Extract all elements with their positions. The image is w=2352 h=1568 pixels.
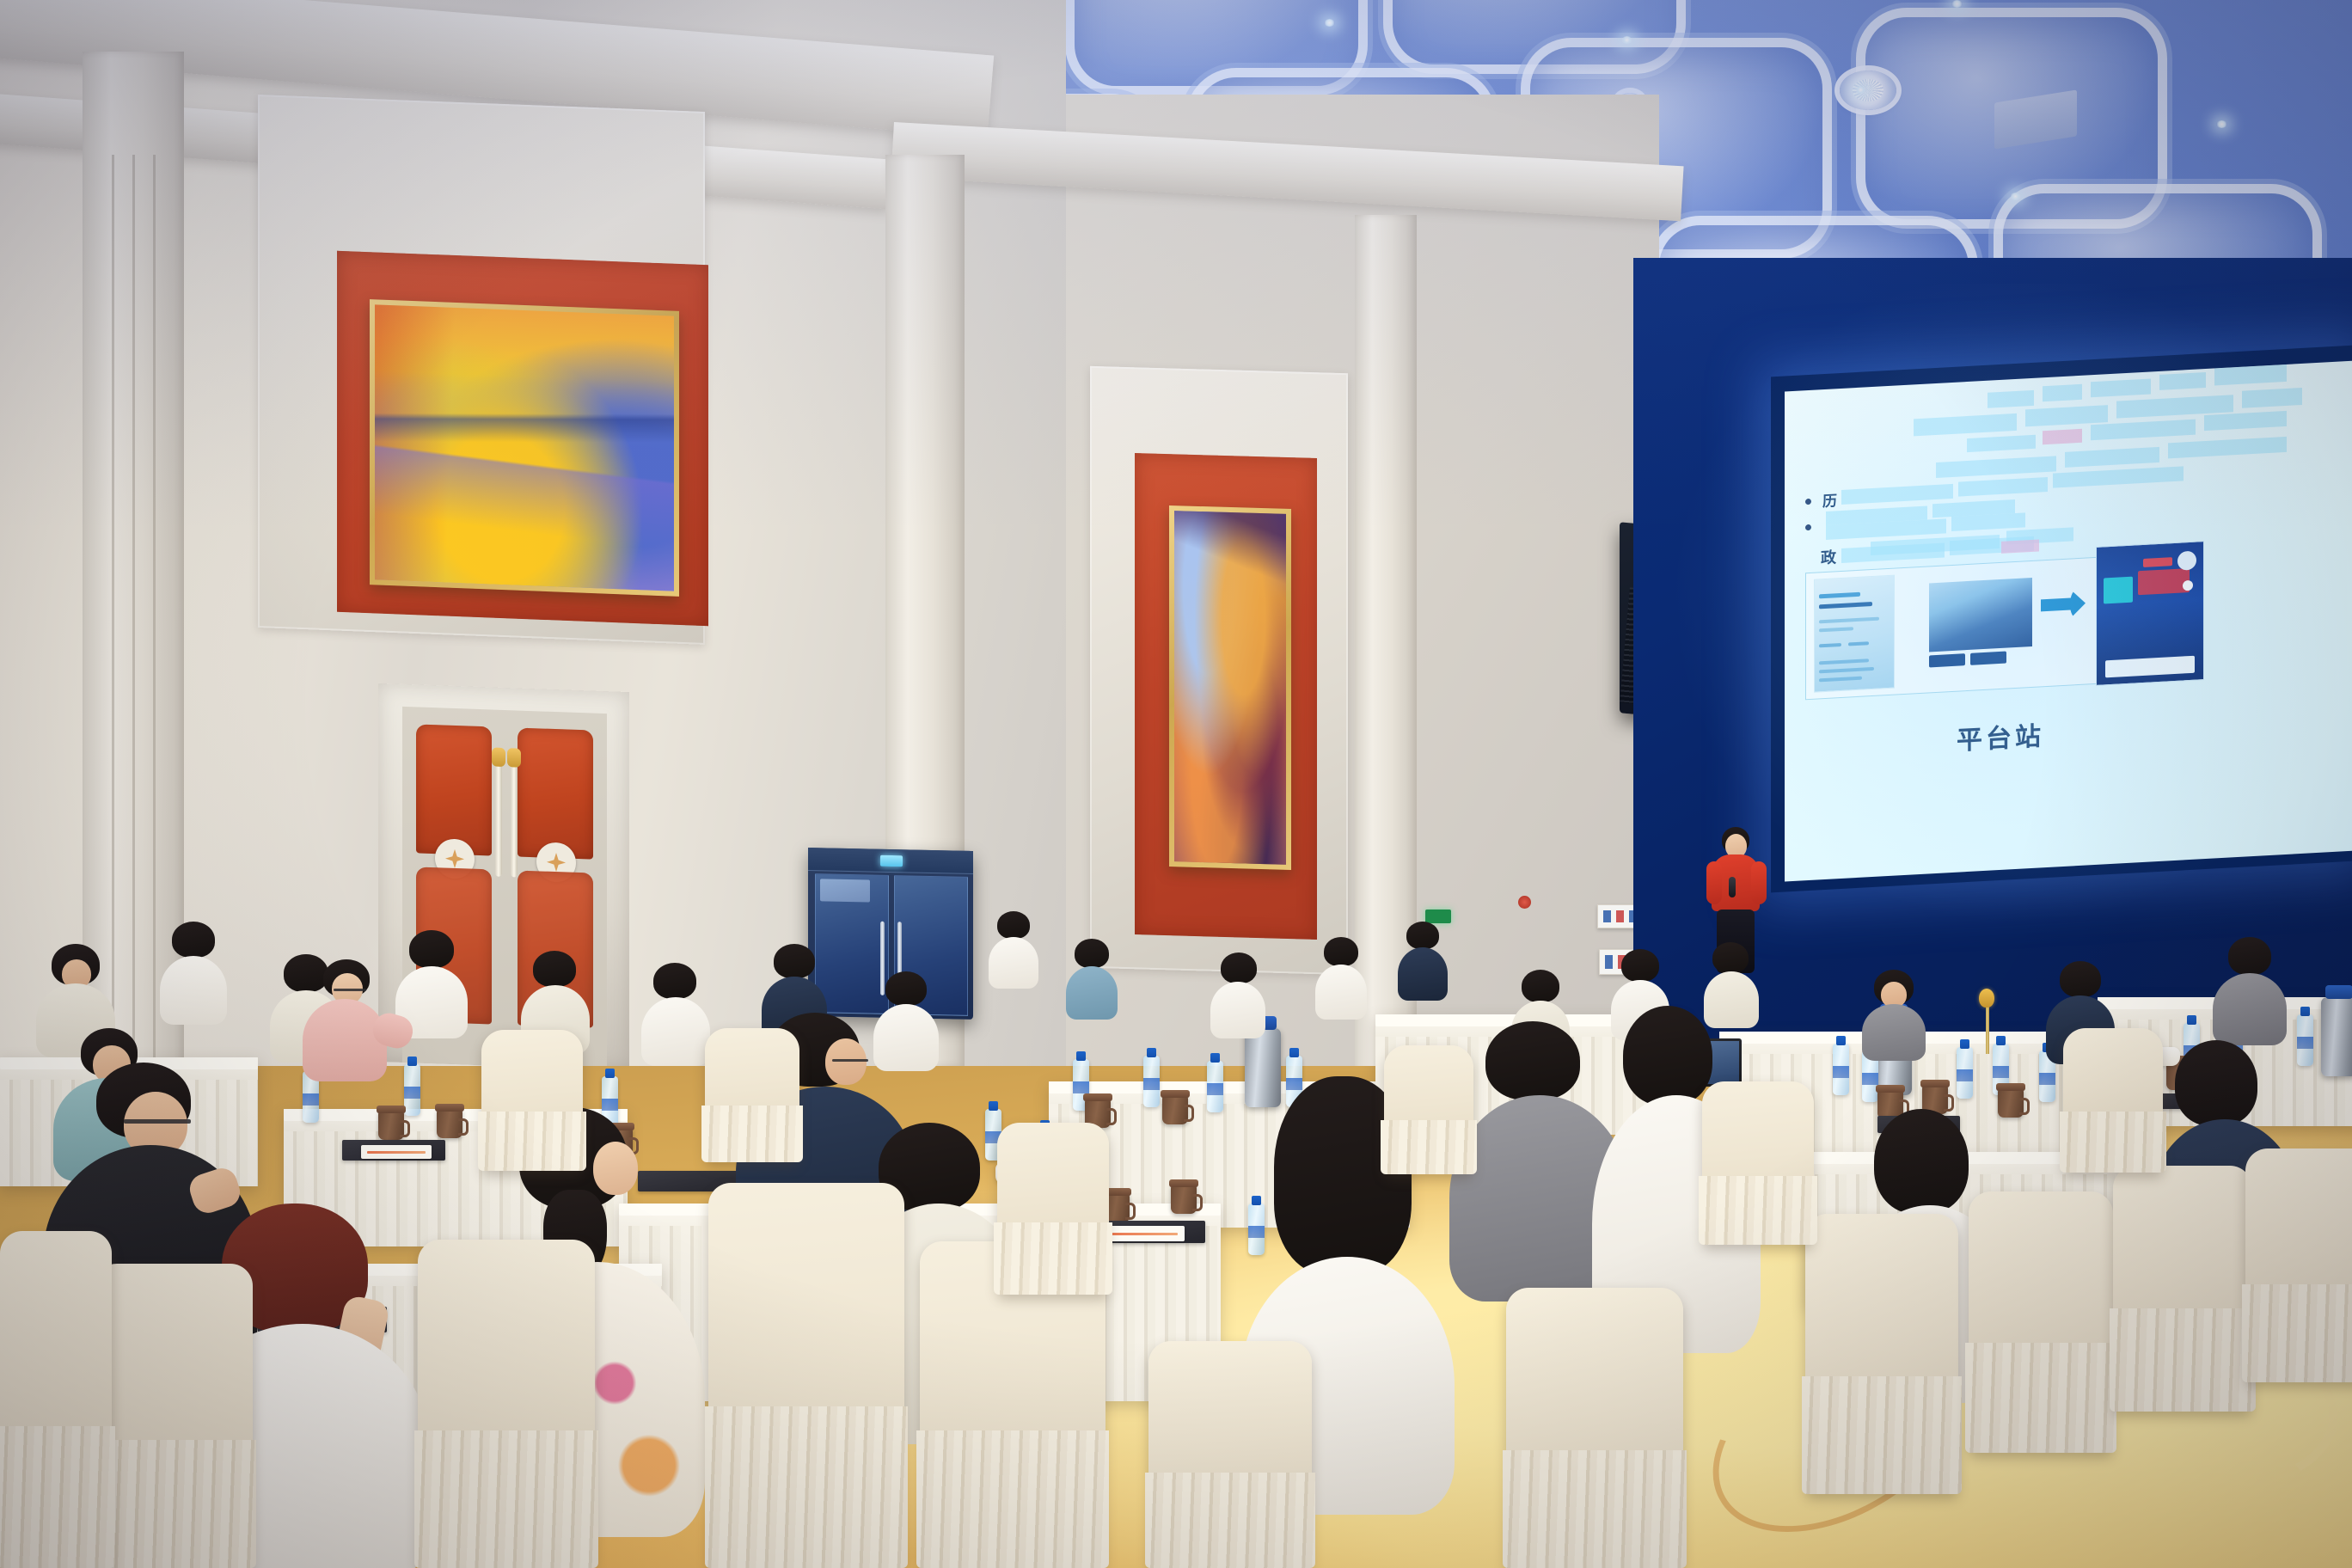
flow-arrow-icon bbox=[2041, 589, 2086, 621]
banquet-chair[interactable] bbox=[705, 1028, 799, 1162]
notepad[interactable] bbox=[361, 1145, 432, 1159]
pilaster-right bbox=[1355, 215, 1417, 1075]
tea-cup[interactable] bbox=[437, 1109, 462, 1138]
slide-thumb-button-1 bbox=[1929, 653, 1965, 667]
banquet-chair[interactable] bbox=[1148, 1341, 1312, 1568]
banquet-chair[interactable] bbox=[1805, 1214, 1958, 1494]
banquet-chair[interactable] bbox=[418, 1240, 595, 1568]
tea-cup[interactable] bbox=[1998, 1088, 2024, 1118]
microphone-icon bbox=[1729, 877, 1736, 897]
tea-cup[interactable] bbox=[1162, 1095, 1188, 1124]
slide-photo-thumb bbox=[1929, 578, 2032, 652]
door-handle-left[interactable] bbox=[495, 763, 502, 877]
banquet-chair[interactable] bbox=[708, 1183, 904, 1568]
thermos-flask[interactable] bbox=[2321, 997, 2352, 1076]
landscape-abstract-painting bbox=[370, 299, 679, 597]
banquet-chair[interactable] bbox=[95, 1264, 253, 1568]
water-bottle[interactable] bbox=[1143, 1056, 1160, 1107]
banquet-chair[interactable] bbox=[1506, 1288, 1683, 1568]
notepad[interactable] bbox=[1100, 1226, 1185, 1241]
mobile-screenshot-thumb bbox=[2096, 541, 2204, 686]
cooler-display bbox=[880, 855, 903, 867]
slide-bullet-1 bbox=[1805, 499, 1811, 505]
slide-side-label: 政 bbox=[1821, 545, 1836, 568]
door-handle-right[interactable] bbox=[511, 763, 518, 877]
exit-sign bbox=[1425, 910, 1451, 923]
slide-content: 历 政 bbox=[1785, 361, 2352, 882]
water-bottle[interactable] bbox=[1833, 1044, 1849, 1095]
tea-cup[interactable] bbox=[1171, 1185, 1197, 1214]
eyeglasses bbox=[124, 1119, 191, 1124]
banquet-chair[interactable] bbox=[1384, 1045, 1473, 1174]
banquet-chair[interactable] bbox=[0, 1231, 112, 1568]
banquet-chair[interactable] bbox=[2063, 1028, 2163, 1173]
pilaster-left bbox=[83, 52, 184, 1066]
slide-bullet-2 bbox=[1805, 524, 1811, 530]
water-bottle[interactable] bbox=[1957, 1047, 1973, 1099]
banquet-chair[interactable] bbox=[2113, 1166, 2252, 1412]
banquet-chair[interactable] bbox=[2245, 1148, 2352, 1382]
tea-cup[interactable] bbox=[378, 1111, 404, 1140]
cooler-door-left[interactable] bbox=[815, 873, 889, 1014]
water-bottle[interactable] bbox=[1207, 1061, 1223, 1112]
banquet-chair[interactable] bbox=[1702, 1081, 1814, 1245]
slide-thumb-button-2 bbox=[1970, 652, 2006, 665]
water-bottle[interactable] bbox=[404, 1064, 420, 1116]
water-bottle[interactable] bbox=[2297, 1014, 2313, 1066]
thermos-flask[interactable] bbox=[1245, 1028, 1281, 1107]
water-bottle[interactable] bbox=[1248, 1204, 1265, 1255]
slide-inline-label: 历 bbox=[1822, 488, 1837, 511]
fire-alarm-button[interactable] bbox=[1518, 896, 1531, 909]
projection-screen: 历 政 bbox=[1771, 346, 2352, 893]
banquet-chair[interactable] bbox=[1969, 1191, 2113, 1453]
table-number-stand bbox=[1979, 989, 1994, 1008]
slide-footer-caption: 平台站 bbox=[1957, 714, 2044, 757]
conference-room-photo: 历 政 bbox=[0, 0, 2352, 1568]
banquet-chair[interactable] bbox=[997, 1123, 1109, 1295]
banquet-chair[interactable] bbox=[481, 1030, 583, 1171]
figure-abstract-painting bbox=[1169, 505, 1291, 870]
